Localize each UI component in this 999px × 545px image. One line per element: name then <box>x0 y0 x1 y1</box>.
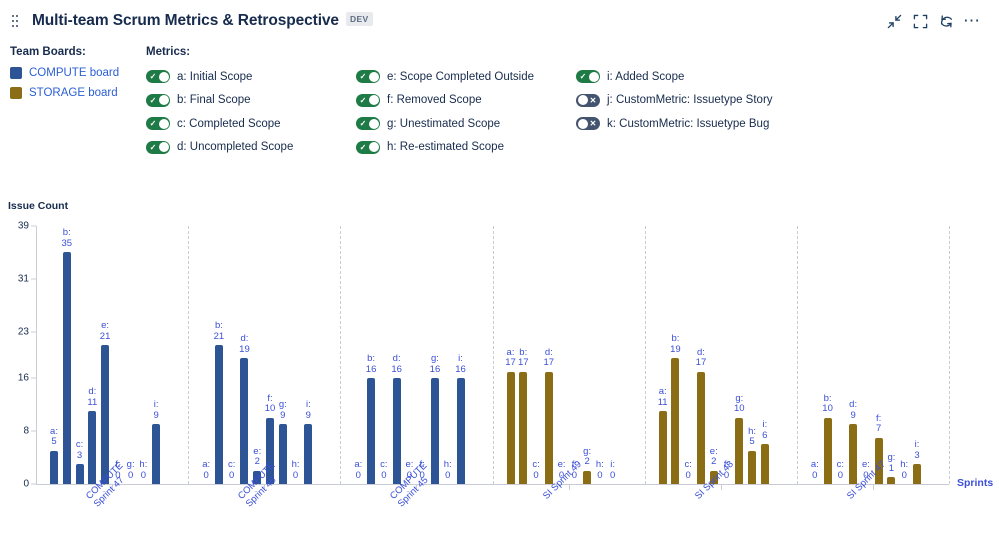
bar-value-label: i: 3 <box>900 440 934 461</box>
chart-bar[interactable] <box>761 444 769 484</box>
board-label-compute: COMPUTE board <box>29 67 119 79</box>
toggle-switch-b[interactable]: ✓ <box>146 94 170 107</box>
bar-value-label: d: 19 <box>227 334 261 355</box>
check-icon: ✓ <box>357 141 369 154</box>
toggle-switch-e[interactable]: ✓ <box>356 70 380 83</box>
metrics-column-3: ✓ i: Added Scope ✕ j: CustomMetric: Issu… <box>576 46 836 159</box>
metric-toggle-row-h[interactable]: ✓ h: Re-estimated Scope <box>356 136 576 160</box>
metric-label-d: d: Uncompleted Scope <box>177 141 293 153</box>
toggle-switch-j[interactable]: ✕ <box>576 94 600 107</box>
metric-toggle-row-f[interactable]: ✓ f: Removed Scope <box>356 89 576 113</box>
bar-value-label: d: 16 <box>380 354 414 375</box>
y-axis-tick-mark <box>31 226 36 227</box>
y-axis-tick-mark <box>31 378 36 379</box>
y-axis-title: Issue Count <box>8 200 68 212</box>
board-legend-compute[interactable]: COMPUTE board <box>10 65 146 81</box>
metrics-column-2: ✓ e: Scope Completed Outside ✓ f: Remove… <box>356 46 576 159</box>
metrics-column-2-spacer <box>356 46 576 58</box>
metrics-column-3-spacer <box>576 46 836 58</box>
metric-toggle-row-j[interactable]: ✕ j: CustomMetric: Issuetype Story <box>576 89 836 113</box>
chart-bar[interactable] <box>457 378 465 484</box>
toggle-knob <box>159 72 169 82</box>
team-boards-column: Team Boards: COMPUTE board STORAGE board <box>10 46 146 159</box>
toggle-knob <box>369 142 379 152</box>
chart-bar[interactable] <box>50 451 58 484</box>
metric-toggle-row-i[interactable]: ✓ i: Added Scope <box>576 65 836 89</box>
toggle-switch-f[interactable]: ✓ <box>356 94 380 107</box>
toggle-knob <box>159 95 169 105</box>
x-axis-tick-mark <box>721 484 722 490</box>
bar-value-label: d: 17 <box>532 348 566 369</box>
group-separator <box>188 226 189 484</box>
metrics-heading: Metrics: <box>146 46 356 58</box>
y-axis-tick-mark <box>31 431 36 432</box>
metric-toggle-row-k[interactable]: ✕ k: CustomMetric: Issuetype Bug <box>576 112 836 136</box>
metric-toggle-row-g[interactable]: ✓ g: Unestimated Scope <box>356 112 576 136</box>
y-axis-tick-mark <box>31 278 36 279</box>
metric-toggle-row-c[interactable]: ✓ c: Completed Scope <box>146 112 356 136</box>
metric-label-i: i: Added Scope <box>607 71 684 83</box>
widget-header: Multi-team Scrum Metrics & Retrospective… <box>0 0 999 36</box>
chart-bar[interactable] <box>507 372 515 484</box>
toggle-switch-c[interactable]: ✓ <box>146 117 170 130</box>
metric-label-b: b: Final Scope <box>177 94 251 106</box>
toggle-switch-i[interactable]: ✓ <box>576 70 600 83</box>
metric-toggle-row-a[interactable]: ✓ a: Initial Scope <box>146 65 356 89</box>
check-icon: ✓ <box>147 94 159 107</box>
metric-label-g: g: Unestimated Scope <box>387 118 500 130</box>
chart-bar[interactable] <box>88 411 96 484</box>
toggle-switch-g[interactable]: ✓ <box>356 117 380 130</box>
bar-value-label: d: 17 <box>684 348 718 369</box>
x-axis-tick-mark <box>873 484 874 490</box>
board-label-storage: STORAGE board <box>29 87 118 99</box>
metric-toggle-row-d[interactable]: ✓ d: Uncompleted Scope <box>146 136 356 160</box>
check-icon: ✓ <box>357 94 369 107</box>
chart-bar[interactable] <box>748 451 756 484</box>
toggle-knob <box>369 119 379 129</box>
chart-bar[interactable] <box>152 424 160 484</box>
metric-label-f: f: Removed Scope <box>387 94 482 106</box>
bar-value-label: f: 7 <box>862 414 896 435</box>
toggle-switch-k[interactable]: ✕ <box>576 117 600 130</box>
group-separator <box>949 226 950 484</box>
cross-icon: ✕ <box>587 94 599 107</box>
chart-bar[interactable] <box>659 411 667 484</box>
bar-value-label: i: 16 <box>444 354 478 375</box>
bar-value-label: e: 21 <box>88 321 122 342</box>
metric-label-k: k: CustomMetric: Issuetype Bug <box>607 118 769 130</box>
chart-bar[interactable] <box>76 464 84 484</box>
check-icon: ✓ <box>577 70 589 83</box>
bar-value-label: i: 6 <box>748 420 782 441</box>
toggle-knob <box>578 95 588 105</box>
toggle-knob <box>578 119 588 129</box>
check-icon: ✓ <box>357 117 369 130</box>
metrics-column-1: Metrics: ✓ a: Initial Scope ✓ b: Final S… <box>146 46 356 159</box>
x-axis-line <box>36 484 949 485</box>
toggle-knob <box>369 72 379 82</box>
toggle-switch-h[interactable]: ✓ <box>356 141 380 154</box>
toggle-knob <box>589 72 599 82</box>
fullscreen-icon[interactable] <box>907 8 933 34</box>
toggle-knob <box>159 142 169 152</box>
legend-panel: Team Boards: COMPUTE board STORAGE board… <box>0 36 999 159</box>
dev-badge: DEV <box>346 12 373 26</box>
group-separator <box>797 226 798 484</box>
chart-bar[interactable] <box>304 424 312 484</box>
metric-label-c: c: Completed Scope <box>177 118 281 130</box>
color-swatch-compute <box>10 67 22 79</box>
more-options-glyph: ⋯ <box>963 17 981 25</box>
x-axis-tick-mark <box>569 484 570 490</box>
collapse-icon[interactable] <box>881 8 907 34</box>
team-boards-heading: Team Boards: <box>10 46 146 58</box>
metric-label-h: h: Re-estimated Scope <box>387 141 504 153</box>
metric-toggle-row-e[interactable]: ✓ e: Scope Completed Outside <box>356 65 576 89</box>
board-legend-storage[interactable]: STORAGE board <box>10 85 146 101</box>
metric-toggle-row-b[interactable]: ✓ b: Final Scope <box>146 89 356 113</box>
color-swatch-storage <box>10 87 22 99</box>
bar-value-label: i: 0 <box>596 460 630 481</box>
check-icon: ✓ <box>357 70 369 83</box>
metric-label-a: a: Initial Scope <box>177 71 252 83</box>
toggle-knob <box>159 119 169 129</box>
y-axis-tick-mark <box>31 484 36 485</box>
toggle-switch-d[interactable]: ✓ <box>146 141 170 154</box>
bar-value-label: b: 35 <box>50 228 84 249</box>
bar-value-label: i: 9 <box>291 400 325 421</box>
group-separator <box>645 226 646 484</box>
page-title: Multi-team Scrum Metrics & Retrospective <box>32 12 339 30</box>
chart-bar[interactable] <box>913 464 921 484</box>
bar-value-label: g: 10 <box>722 394 756 415</box>
toggle-switch-a[interactable]: ✓ <box>146 70 170 83</box>
cross-icon: ✕ <box>587 117 599 130</box>
x-axis-title: Sprints <box>957 477 993 489</box>
group-separator <box>340 226 341 484</box>
metric-label-j: j: CustomMetric: Issuetype Story <box>607 94 773 106</box>
chart-plot-area[interactable]: 0816233139a: 5b: 35c: 3d: 11e: 21f: 0g: … <box>36 226 949 484</box>
bar-value-label: i: 9 <box>139 400 173 421</box>
drag-handle-icon[interactable] <box>12 14 22 28</box>
more-options-icon[interactable]: ⋯ <box>959 8 985 34</box>
refresh-icon[interactable] <box>933 8 959 34</box>
check-icon: ✓ <box>147 70 159 83</box>
y-axis-tick-mark <box>31 331 36 332</box>
metric-label-e: e: Scope Completed Outside <box>387 71 534 83</box>
chart-container: Issue Count 0816233139a: 5b: 35c: 3d: 11… <box>0 196 999 545</box>
toggle-knob <box>369 95 379 105</box>
check-icon: ✓ <box>147 117 159 130</box>
check-icon: ✓ <box>147 141 159 154</box>
